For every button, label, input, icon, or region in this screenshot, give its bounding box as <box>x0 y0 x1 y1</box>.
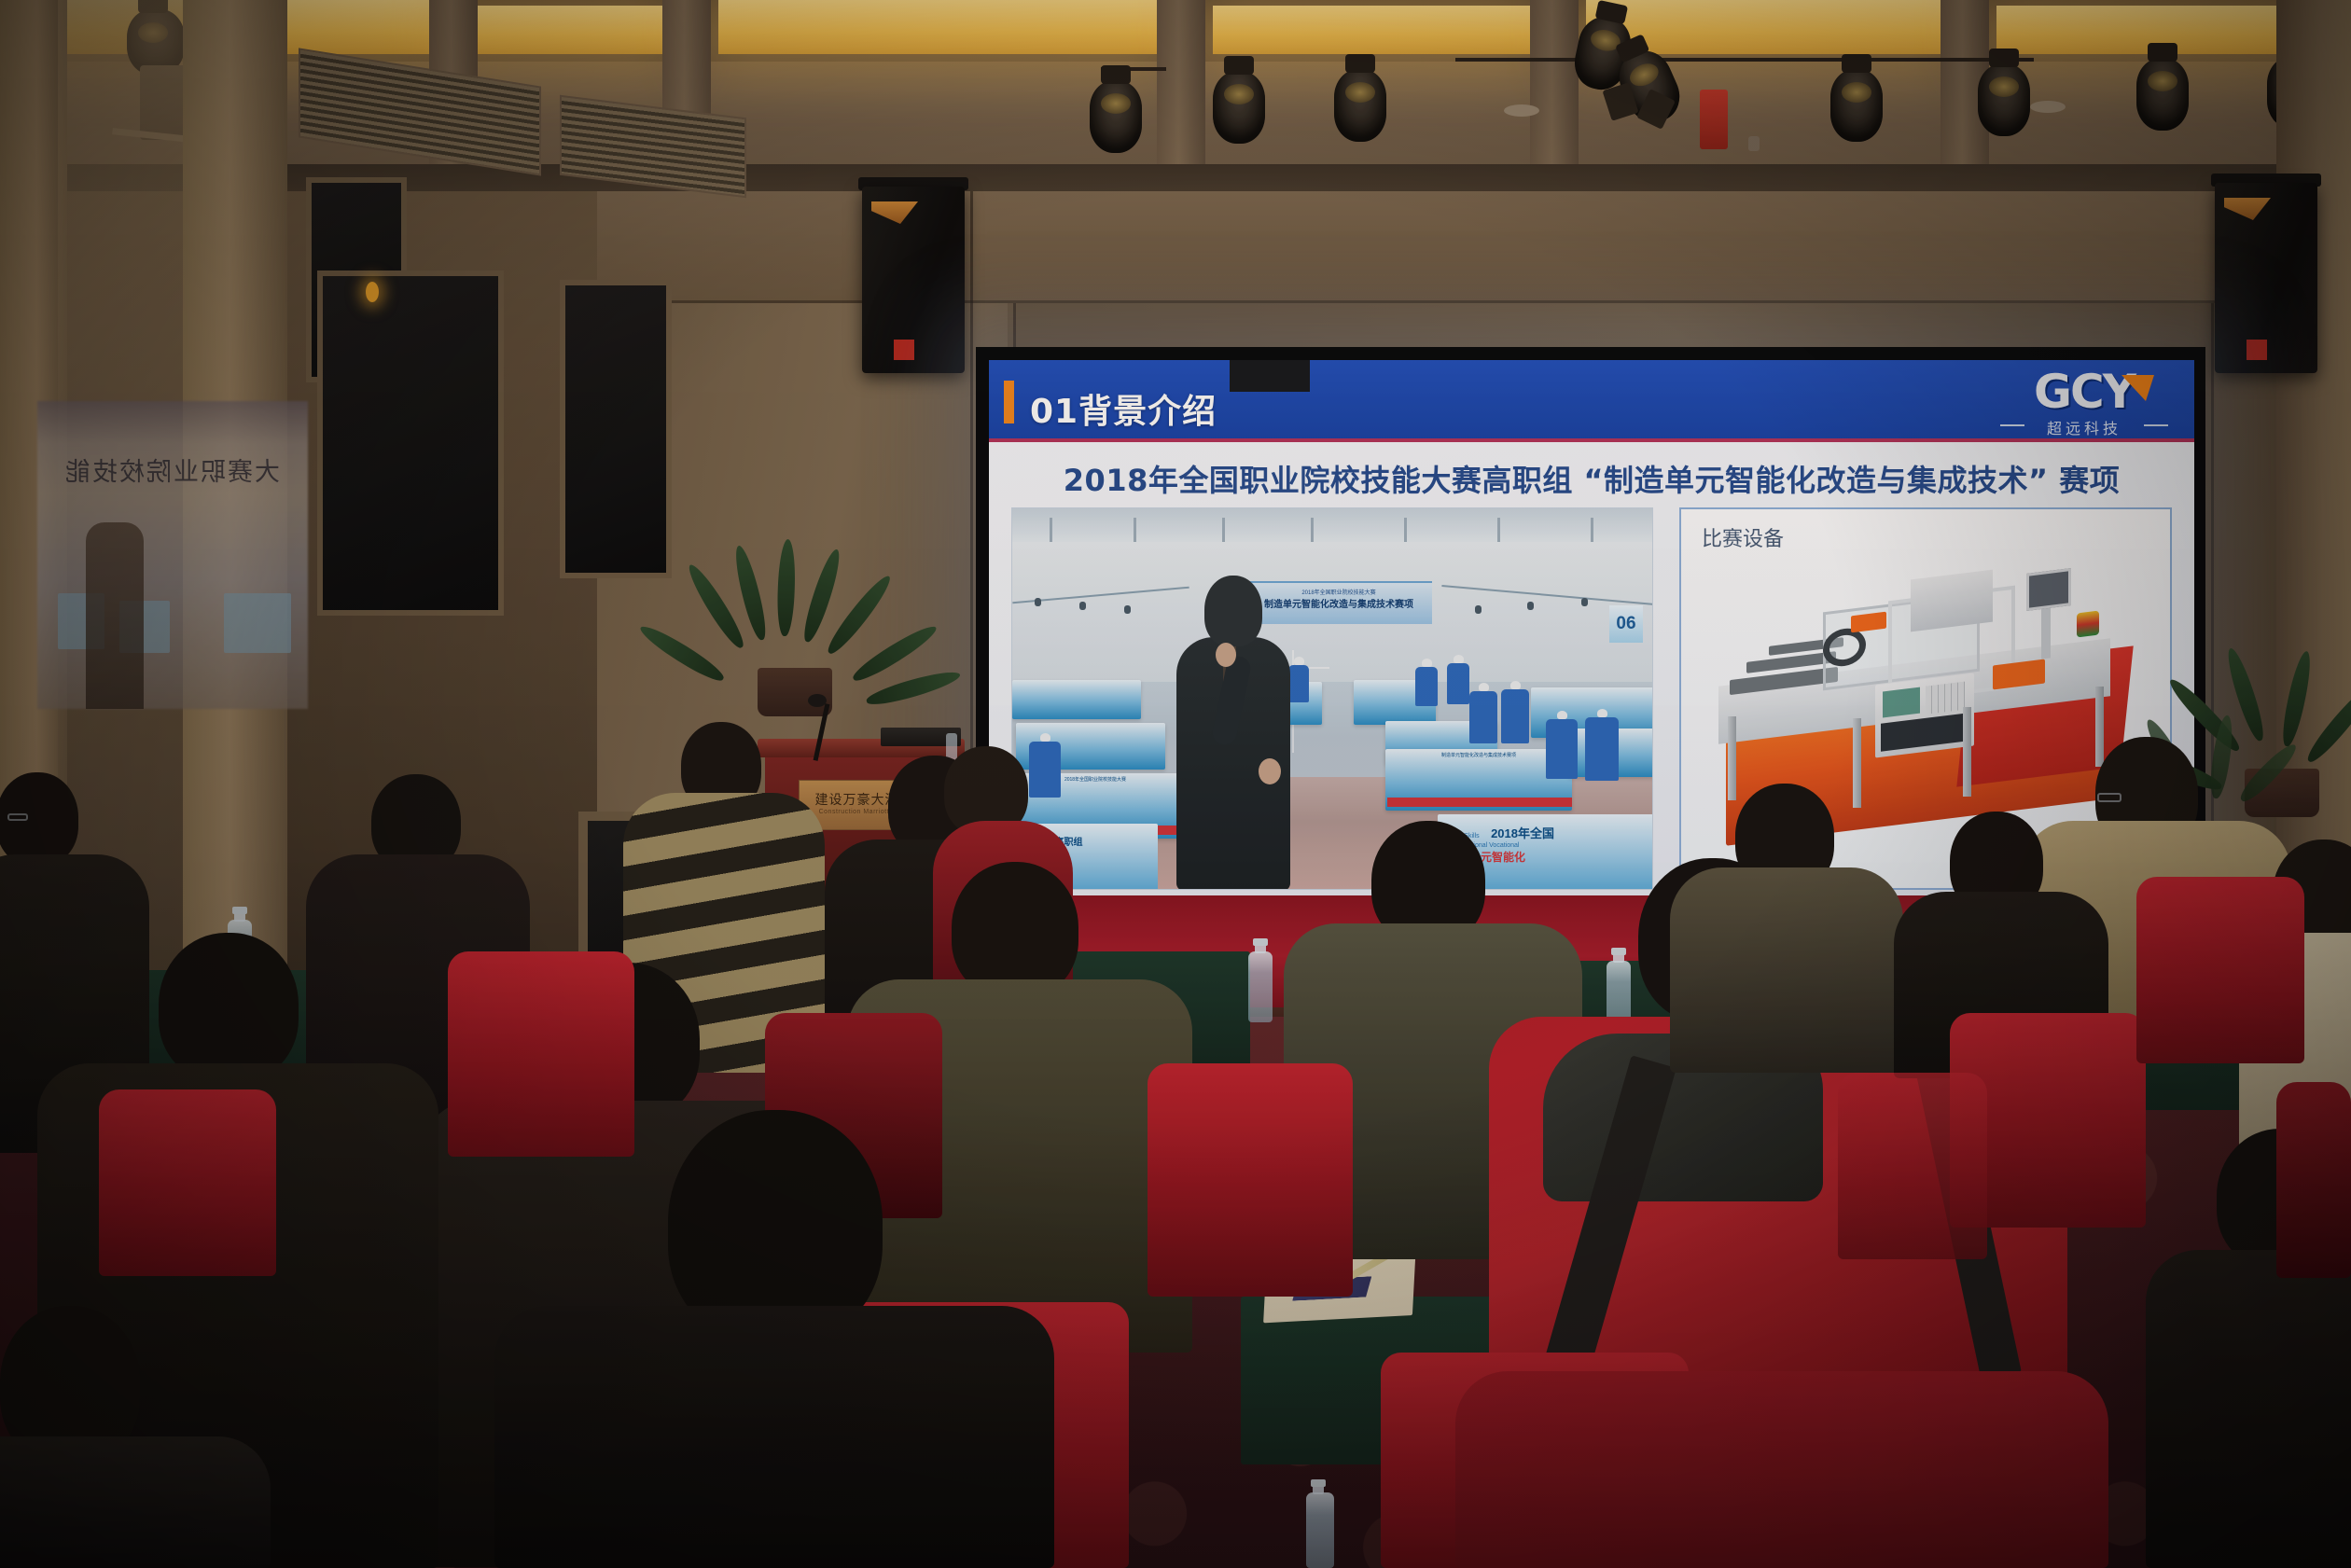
window-opening <box>560 280 672 578</box>
presenter-silhouette <box>1173 576 1292 890</box>
attendee-body <box>2146 1250 2351 1568</box>
bottle-cap <box>232 907 247 914</box>
competitor <box>1415 667 1438 706</box>
frame-post <box>1853 718 1861 808</box>
presenter-hand <box>1259 758 1281 784</box>
hanging-bulb <box>1581 598 1588 606</box>
plant-pot <box>758 668 832 716</box>
competitor <box>1585 717 1619 781</box>
presenter-head <box>1204 576 1262 646</box>
speaker-badge <box>894 340 914 360</box>
eyeglasses <box>2097 793 2121 802</box>
hanging-bulb <box>1035 598 1041 606</box>
speaker-badge <box>2247 340 2267 360</box>
spotlight-lens <box>1101 93 1131 114</box>
spotlight-lens <box>1224 84 1254 104</box>
water-bottle <box>1248 951 1273 1022</box>
mirror-reflection <box>37 401 308 709</box>
eyeglasses <box>7 813 28 821</box>
frame-post <box>1963 707 1971 797</box>
sprinkler-head <box>1748 136 1760 151</box>
banner-en: 2018 National Vocational <box>1447 842 1648 849</box>
audience-chair[interactable] <box>2276 1082 2351 1278</box>
logo-triangle-icon <box>2121 375 2154 401</box>
equipment-panel-label: 比赛设备 <box>1702 522 1784 552</box>
gcy-logo: GCY 超远科技 <box>1998 369 2170 438</box>
smoke-detector <box>2030 101 2066 113</box>
component-rack <box>1911 570 1993 632</box>
spotlight-lens <box>1842 82 1871 103</box>
competitor <box>1546 719 1578 779</box>
hmi-monitor <box>2026 568 2071 611</box>
bottle-cap <box>1253 938 1268 946</box>
cnc-keypad <box>1926 682 1965 715</box>
spotlight-lens <box>1626 60 1662 90</box>
header-accent-bar <box>1004 381 1014 423</box>
water-bottle <box>1306 1492 1334 1568</box>
fire-alarm-box <box>1700 90 1728 149</box>
stage-spotlight <box>1090 80 1142 153</box>
stage-spotlight <box>1830 69 1883 142</box>
speaker-logo-chevron <box>871 201 918 224</box>
cnc-button-panel <box>1881 713 1968 752</box>
pa-speaker-right <box>2215 183 2317 373</box>
pa-speaker-left <box>862 187 965 373</box>
attendee-head <box>952 862 1078 998</box>
presentation-photo-scene: 大赛职业院校技能 01背景介绍 GCY 超远科技 2018年全国职业 <box>0 0 2351 1568</box>
speaker-logo-chevron <box>2224 198 2271 220</box>
stage-spotlight <box>1334 69 1386 142</box>
spotlight-lens <box>1989 76 2019 97</box>
competitor <box>1029 742 1061 798</box>
hall-roof <box>1012 508 1652 546</box>
hanging-bulb <box>1475 605 1482 614</box>
audience-chair[interactable] <box>448 951 634 1157</box>
audience-chair[interactable] <box>2136 877 2304 1063</box>
bottle-cap <box>1611 948 1626 955</box>
attendee-body <box>0 1436 271 1568</box>
attendee-body <box>494 1306 1054 1568</box>
monitor-stand <box>2041 605 2051 659</box>
stage-spotlight <box>1978 63 2030 136</box>
signal-tower-light <box>2077 611 2099 638</box>
window-opening <box>317 271 504 616</box>
logo-subtitle: 超远科技 <box>1998 416 2170 438</box>
workstation-label: 制造单元智能化改造与集成技术赛项 <box>1385 749 1572 758</box>
workstation <box>1012 680 1141 719</box>
competitor <box>1447 663 1469 704</box>
smoke-detector <box>1504 104 1539 117</box>
hanging-bulb <box>1124 605 1131 614</box>
wall-upper-band <box>597 191 2351 303</box>
ceiling-light-panel <box>1213 6 1530 54</box>
mirror-person-silhouette <box>86 522 144 709</box>
slide-title: 2018年全国职业院校技能大赛高职组 “制造单元智能化改造与集成技术” 赛项 <box>989 457 2194 500</box>
spotlight-lens <box>2148 71 2177 91</box>
hanging-bulb <box>1527 602 1534 610</box>
stage-spotlight <box>2136 58 2189 131</box>
mirror-bench <box>224 593 291 653</box>
audience-chair[interactable] <box>1838 1073 1987 1259</box>
stage-spotlight <box>1213 71 1265 144</box>
slide-competition-photo: 2018年全国职业院校技能大赛 制造单元智能化改造与集成技术赛项 06 2018… <box>1011 507 1653 890</box>
hanging-bulb <box>1079 602 1086 610</box>
spotlight-lens <box>1345 82 1375 103</box>
audience-chair[interactable] <box>99 1089 276 1276</box>
backpack-lower <box>1455 1371 2108 1568</box>
cnc-control-panel <box>1875 673 1974 757</box>
ceiling-light-panel <box>466 6 662 54</box>
cnc-screen <box>1883 687 1920 718</box>
header-notch <box>1230 360 1310 392</box>
presenter-hand <box>1216 643 1236 667</box>
slide-header-bar: 01背景介绍 GCY 超远科技 <box>989 360 2194 442</box>
frame-post <box>1728 716 1736 800</box>
microphone-icon <box>808 694 827 707</box>
audience-chair[interactable] <box>1148 1063 1353 1297</box>
competitor <box>1469 691 1497 743</box>
attendee-head <box>159 933 299 1082</box>
bottle-cap <box>1311 1479 1326 1487</box>
banner-year: 2018年全国 <box>1491 826 1554 840</box>
frame-post <box>2095 687 2104 767</box>
exit-indicator-light <box>366 282 379 302</box>
competitor <box>1501 689 1529 743</box>
ceiling-light-panel <box>718 0 1157 54</box>
spotlight-rail <box>1455 58 2034 62</box>
mirror-reflection-text: 大赛职业院校技能 <box>41 451 302 488</box>
slide-section-label: 01背景介绍 <box>1030 384 1217 433</box>
workstation-base <box>1387 798 1572 807</box>
attendee-body <box>1670 867 1903 1073</box>
station-number-tag: 06 <box>1609 605 1643 643</box>
